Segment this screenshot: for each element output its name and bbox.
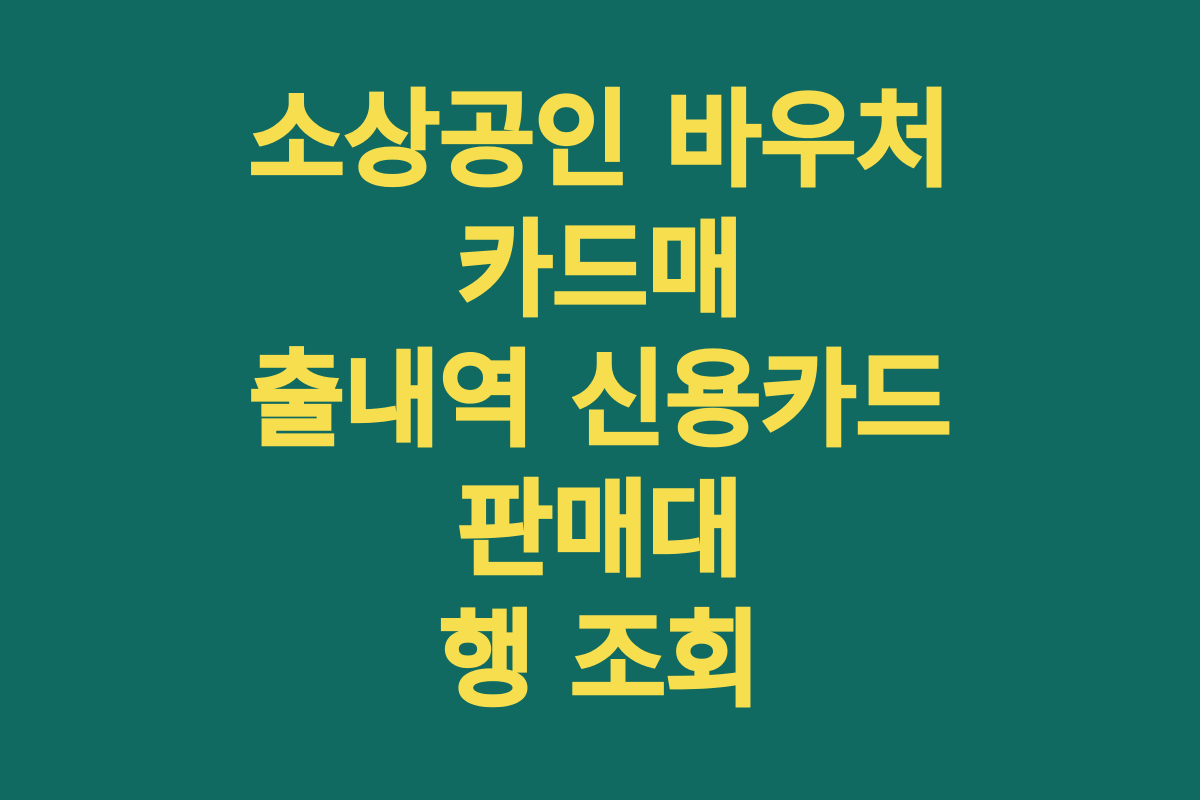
title-card: 소상공인 바우처 카드매 출내역 신용카드 판매대 행 조회	[0, 0, 1200, 800]
page-title: 소상공인 바우처 카드매 출내역 신용카드 판매대 행 조회	[90, 75, 1110, 725]
title-line-3: 행 조회	[90, 595, 1110, 725]
title-line-2: 출내역 신용카드 판매대	[90, 335, 1110, 595]
title-line-1: 소상공인 바우처 카드매	[90, 75, 1110, 335]
